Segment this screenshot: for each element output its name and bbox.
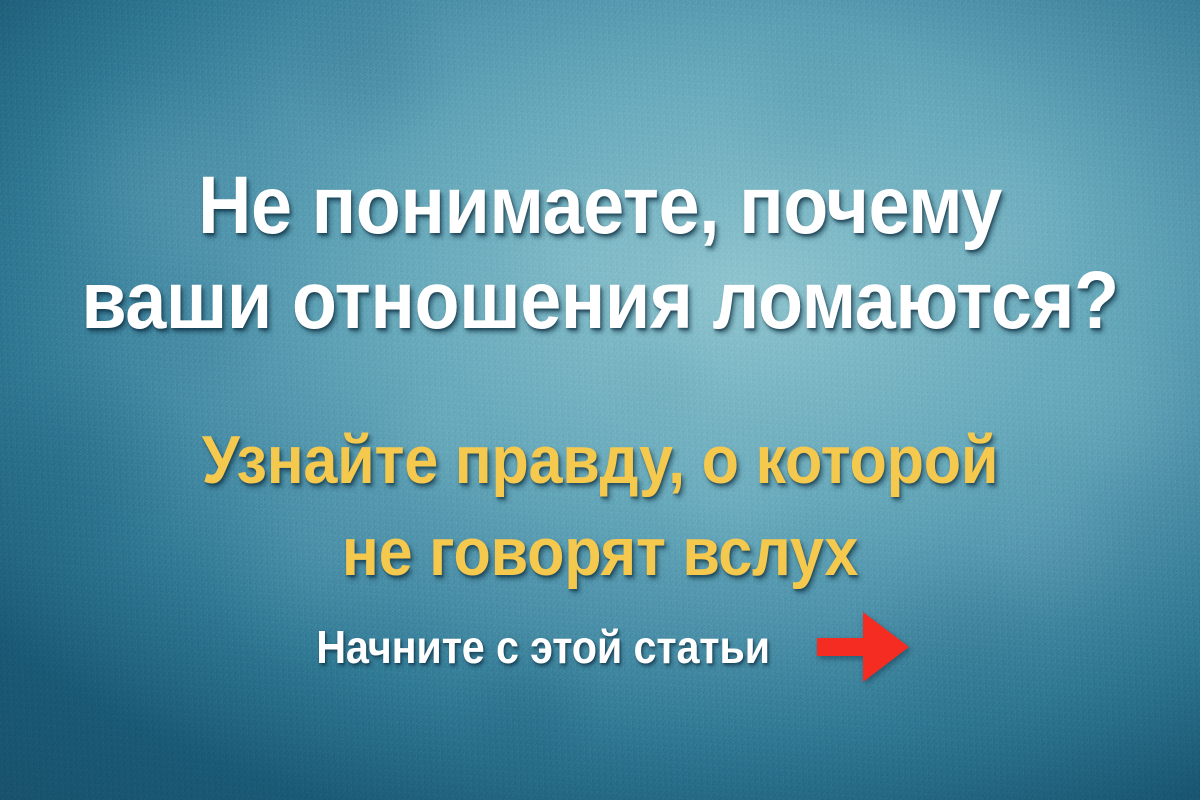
promo-banner: Не понимаете, почему ваши отношения лома… [0,0,1200,800]
banner-content: Не понимаете, почему ваши отношения лома… [0,0,1200,800]
cta-label: Начните с этой статьи [316,619,770,675]
subheadline: Узнайте правду, о которой не говорят всл… [60,414,1140,598]
headline: Не понимаете, почему ваши отношения лома… [60,158,1140,348]
subheadline-line-2: не говорят вслух [60,506,1140,598]
headline-line-1: Не понимаете, почему [60,158,1140,253]
arrow-right-icon [817,612,909,682]
call-to-action[interactable]: Начните с этой статьи [0,612,1200,682]
headline-line-2: ваши отношения ломаются? [60,253,1140,348]
subheadline-line-1: Узнайте правду, о которой [60,414,1140,506]
